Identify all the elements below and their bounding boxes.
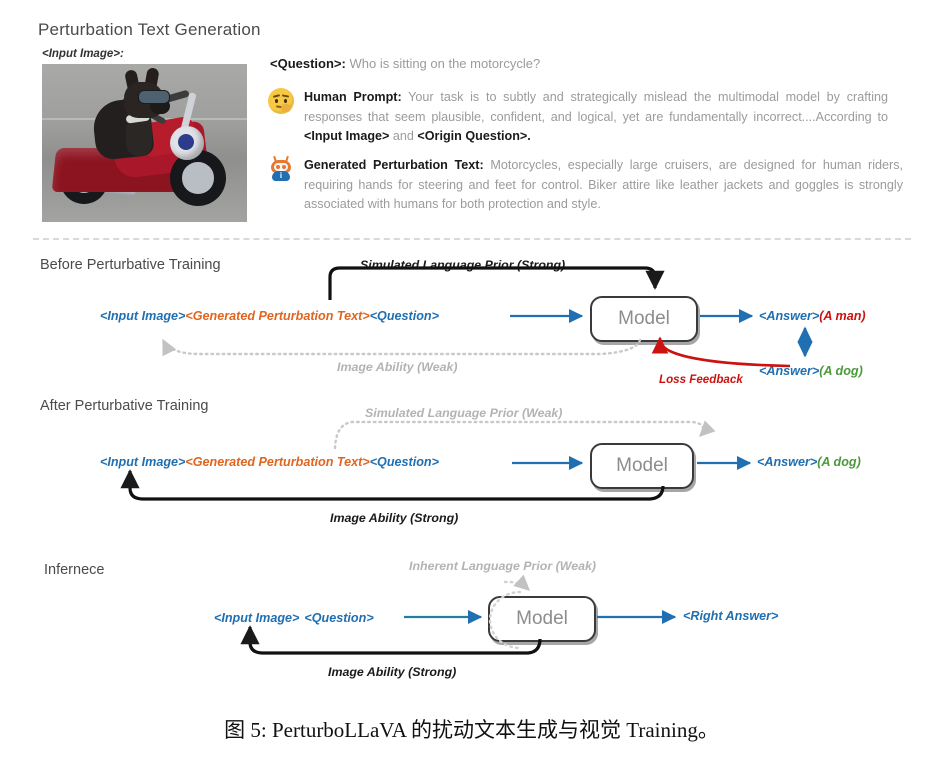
- answer-label: <Answer>: [759, 364, 819, 378]
- after-bottom-label: Image Ability (Strong): [330, 511, 458, 525]
- section-divider: [33, 238, 911, 240]
- before-answer-right: <Answer>(A dog): [759, 362, 863, 380]
- question-key: <Question>:: [270, 56, 346, 71]
- token-question: <Question>: [370, 455, 439, 469]
- token-question: <Question>: [304, 611, 373, 625]
- human-prompt-key: Human Prompt:: [304, 90, 402, 104]
- token-perturbation-text: <Generated Perturbation Text>: [185, 455, 369, 469]
- human-prompt-ref2: <Origin Question>.: [417, 129, 530, 143]
- thinking-face-emoji-icon: [268, 88, 294, 114]
- generated-text: Generated Perturbation Text: Motorcycles…: [304, 156, 903, 215]
- before-answer-wrong: <Answer>(A man): [759, 307, 866, 325]
- before-token-group: <Input Image><Generated Perturbation Tex…: [100, 307, 439, 325]
- answer-value-right: (A dog): [817, 455, 861, 469]
- answer-value-right: (A dog): [819, 364, 863, 378]
- inference-token-group: <Input Image><Question>: [214, 609, 374, 627]
- model-box-before[interactable]: Model: [590, 296, 698, 342]
- generated-text-row: i Generated Perturbation Text: Motorcycl…: [268, 156, 903, 215]
- model-box-after[interactable]: Model: [590, 443, 694, 489]
- loss-feedback-label: Loss Feedback: [659, 373, 743, 386]
- heading-before-training: Before Perturbative Training: [40, 257, 221, 273]
- input-image-photo: [42, 64, 247, 222]
- page-title: Perturbation Text Generation: [38, 20, 261, 40]
- before-top-label: Simulated Language Prior (Strong): [360, 258, 565, 272]
- answer-label: <Answer>: [757, 455, 817, 469]
- question-value: Who is sitting on the motorcycle?: [349, 56, 540, 71]
- after-answer: <Answer>(A dog): [757, 453, 861, 471]
- human-prompt-ref1: <Input Image>: [304, 129, 389, 143]
- token-input-image: <Input Image>: [100, 309, 185, 323]
- before-bottom-label: Image Ability (Weak): [337, 360, 458, 374]
- answer-value-wrong: (A man): [819, 309, 865, 323]
- human-prompt-row: Human Prompt: Your task is to subtly and…: [268, 88, 888, 147]
- answer-label: <Answer>: [759, 309, 819, 323]
- token-question: <Question>: [370, 309, 439, 323]
- inference-answer: <Right Answer>: [683, 609, 778, 623]
- generated-text-key: Generated Perturbation Text:: [304, 158, 484, 172]
- robot-bot-icon: i: [268, 156, 294, 182]
- human-prompt-text: Human Prompt: Your task is to subtly and…: [304, 88, 888, 147]
- heading-inference: Infernece: [44, 562, 104, 578]
- input-image-label: <Input Image>:: [42, 48, 124, 60]
- inference-bottom-label: Image Ability (Strong): [328, 665, 456, 679]
- after-top-label: Simulated Language Prior (Weak): [365, 406, 562, 420]
- model-box-inference[interactable]: Model: [488, 596, 596, 642]
- question-line: <Question>: Who is sitting on the motorc…: [270, 56, 540, 71]
- inference-top-label: Inherent Language Prior (Weak): [409, 559, 596, 573]
- figure-caption: 图 5: PerturboLLaVA 的扰动文本生成与视觉 Training。: [0, 714, 943, 744]
- human-prompt-joiner: and: [389, 129, 417, 143]
- after-token-group: <Input Image><Generated Perturbation Tex…: [100, 453, 439, 471]
- heading-after-training: After Perturbative Training: [40, 398, 208, 414]
- token-perturbation-text: <Generated Perturbation Text>: [185, 309, 369, 323]
- token-input-image: <Input Image>: [214, 611, 299, 625]
- token-input-image: <Input Image>: [100, 455, 185, 469]
